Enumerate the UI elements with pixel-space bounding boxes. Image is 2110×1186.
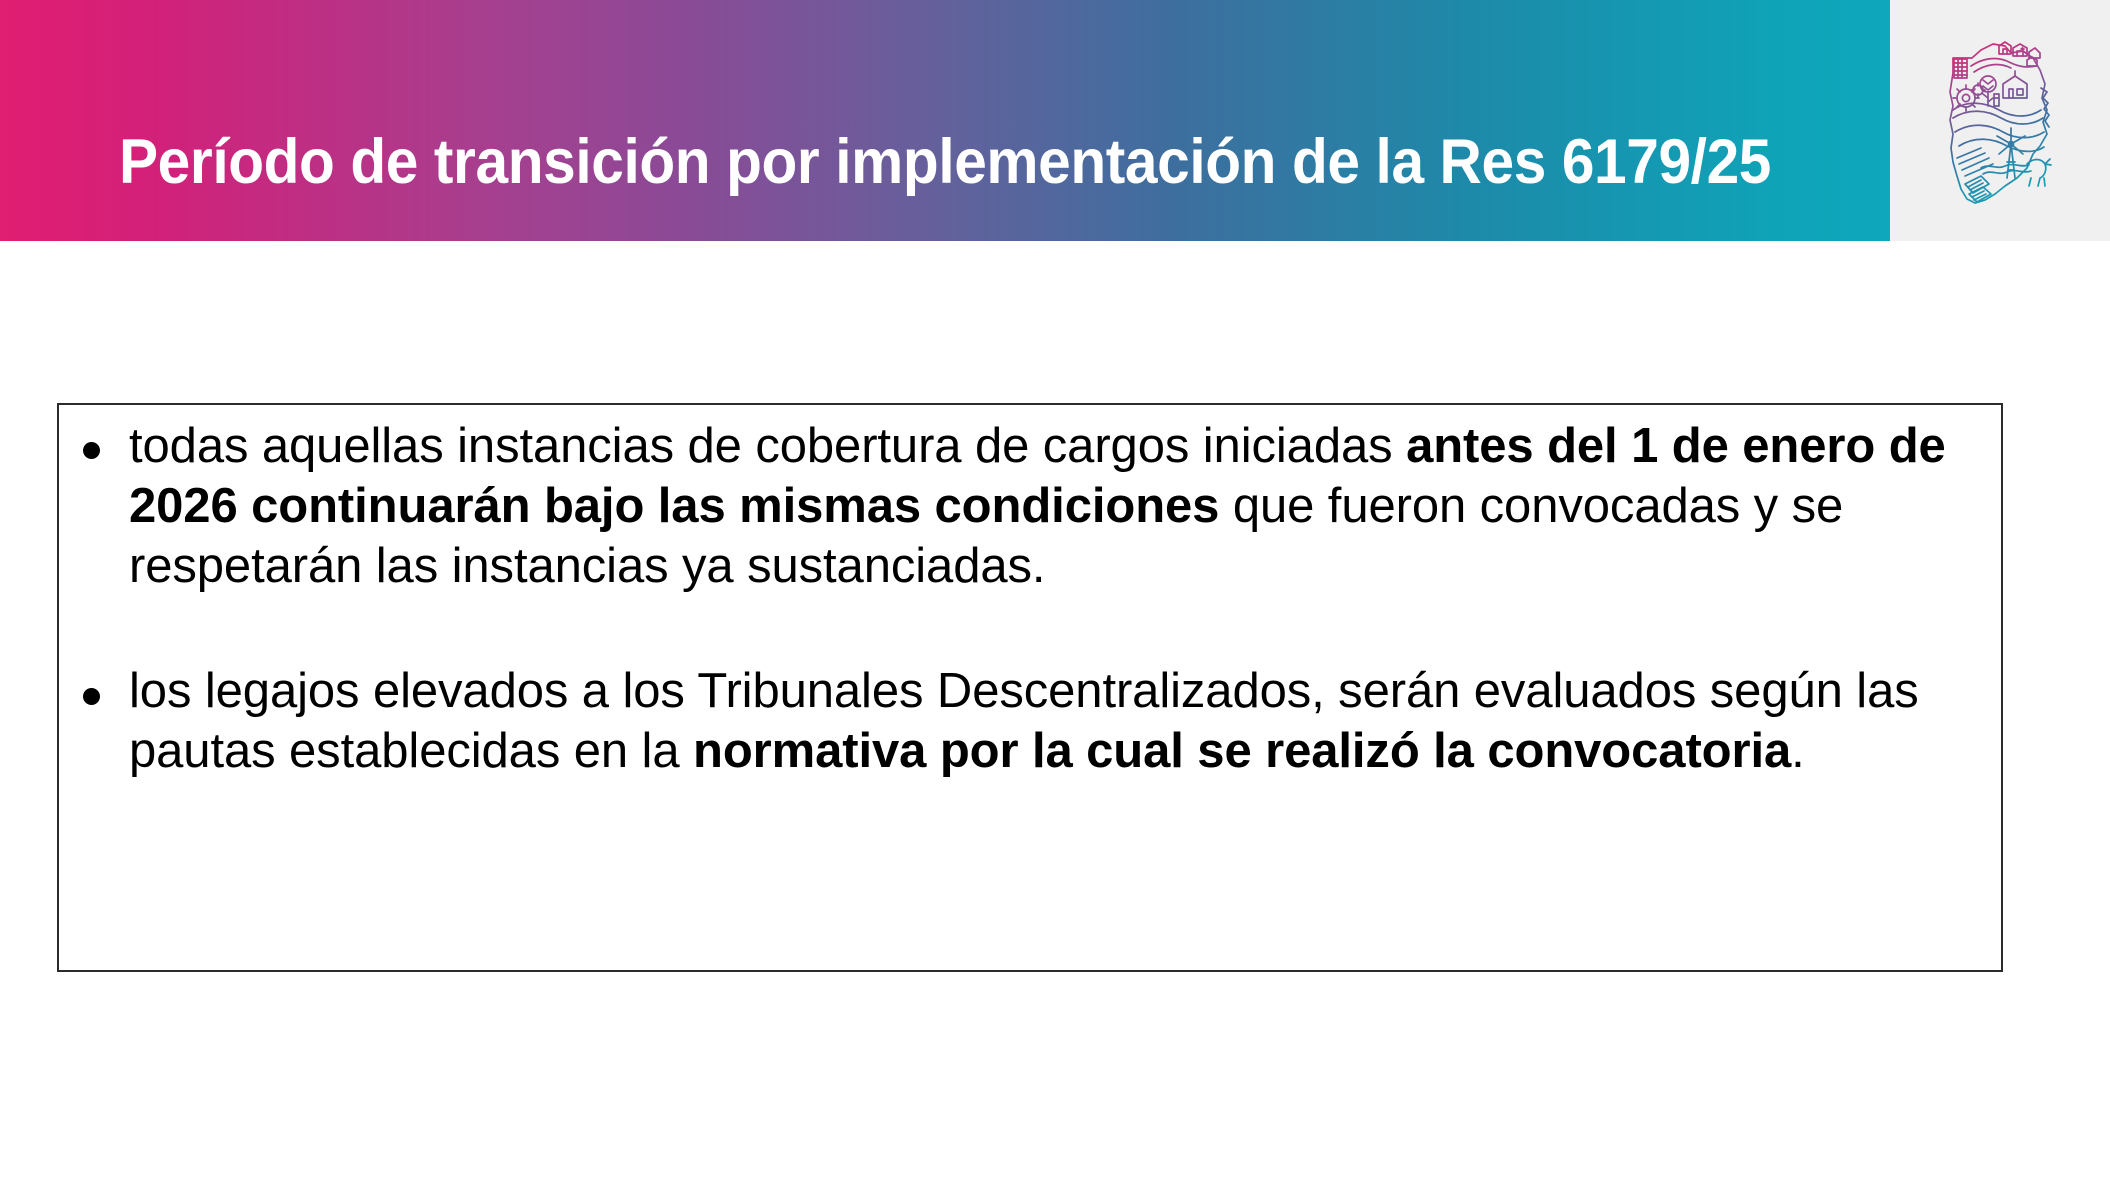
bullet-2-segment-bold: normativa por la cual se realizó la conv…	[693, 724, 1791, 778]
page-title: Período de transición por implementación…	[103, 48, 1786, 277]
logo-panel	[1890, 0, 2110, 241]
provincia-de-buenos-aires-logo-icon	[1941, 36, 2059, 206]
bullet-1-segment-plain-a: todas aquellas instancias de cobertura d…	[129, 419, 1406, 473]
bullet-text-1: todas aquellas instancias de cobertura d…	[129, 417, 1994, 596]
slide-header: Período de transición por implementación…	[0, 0, 2110, 241]
bullet-text-2: los legajos elevados a los Tribunales De…	[129, 662, 1994, 782]
list-item: todas aquellas instancias de cobertura d…	[69, 417, 1994, 596]
bullet-2-segment-plain-b: .	[1791, 724, 1805, 778]
bullet-dot-icon	[83, 442, 100, 459]
bullet-list: todas aquellas instancias de cobertura d…	[69, 417, 1994, 782]
bullet-dot-icon	[83, 688, 100, 705]
content-text-box: todas aquellas instancias de cobertura d…	[57, 403, 2003, 972]
list-item: los legajos elevados a los Tribunales De…	[69, 662, 1994, 782]
